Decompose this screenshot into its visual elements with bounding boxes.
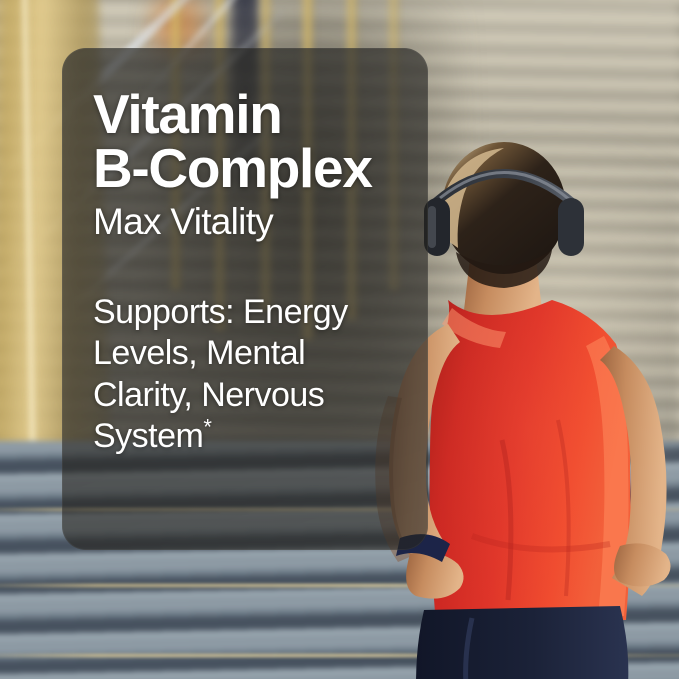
headline-line-2: B-Complex <box>93 142 433 196</box>
benefits-line-1: Supports: Energy <box>93 292 413 333</box>
benefits-line-3: Clarity, Nervous <box>93 375 413 416</box>
headphone-earcup-right <box>558 198 584 256</box>
navy-shorts <box>416 606 628 679</box>
benefits-line-2: Levels, Mental <box>93 333 413 374</box>
benefits-line-4: System* <box>93 416 413 457</box>
headline-line-1: Vitamin <box>93 88 433 142</box>
benefits-text: Supports: Energy Levels, Mental Clarity,… <box>93 292 413 458</box>
disclaimer-asterisk: * <box>203 415 211 440</box>
copy-block: Vitamin B-Complex Max Vitality Supports:… <box>93 48 433 458</box>
benefits-line-4-text: System <box>93 417 203 455</box>
right-hand <box>614 543 671 586</box>
subhead: Max Vitality <box>93 202 433 241</box>
page-title: Vitamin B-Complex <box>93 48 433 196</box>
product-banner: Vitamin B-Complex Max Vitality Supports:… <box>0 0 679 679</box>
